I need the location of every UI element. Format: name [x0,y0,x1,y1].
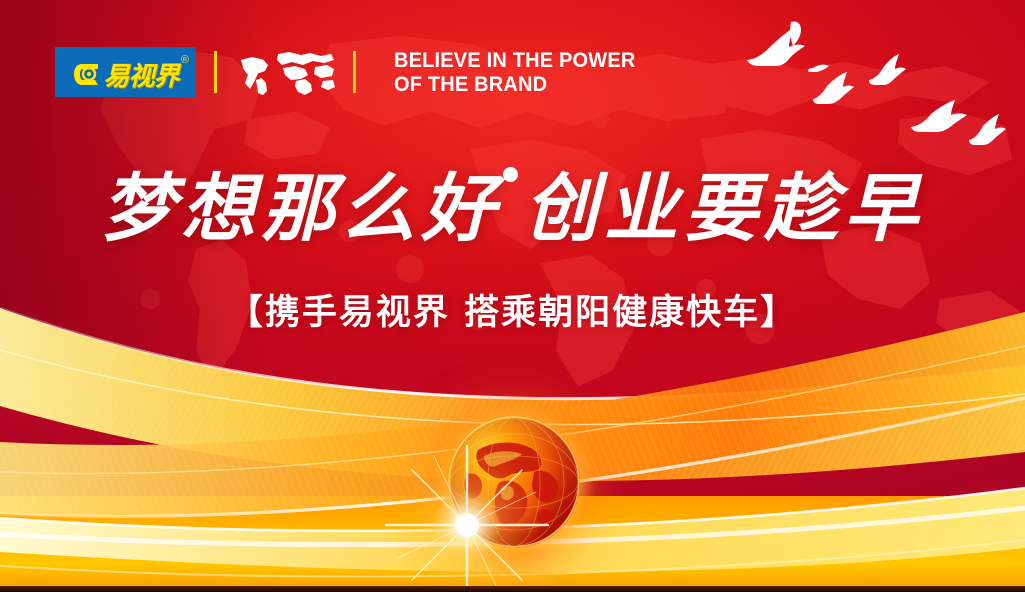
logo-brand-name: 易视界 [103,64,178,90]
divider-bar-right [353,51,356,93]
divider-bar-left [214,51,217,93]
globe-graphic [448,416,580,548]
headline-separator-dot [503,167,518,182]
world-map-icon [235,49,335,95]
headline-part2: 创业要趁早 [524,172,924,246]
header-bar: 易视界 ® BELIEVE IN THE POWER OF THE BRAND [55,43,654,101]
english-slogan: BELIEVE IN THE POWER OF THE BRAND [394,48,635,96]
headline-part1: 梦想那么好 [101,172,501,246]
bottom-edge-strip [0,586,1025,592]
headline: 梦想那么好创业要趁早 [0,172,1025,246]
registered-mark: ® [181,54,189,66]
logo-e-mark-icon [72,59,102,89]
sub-headline: 【携手易视界 搭乘朝阳健康快车】 [0,284,1025,335]
brand-logo[interactable]: 易视界 ® [55,47,196,97]
flying-doves-icon [735,14,1025,154]
promo-banner: 易视界 ® BELIEVE IN THE POWER OF THE BRAND [0,0,1025,592]
